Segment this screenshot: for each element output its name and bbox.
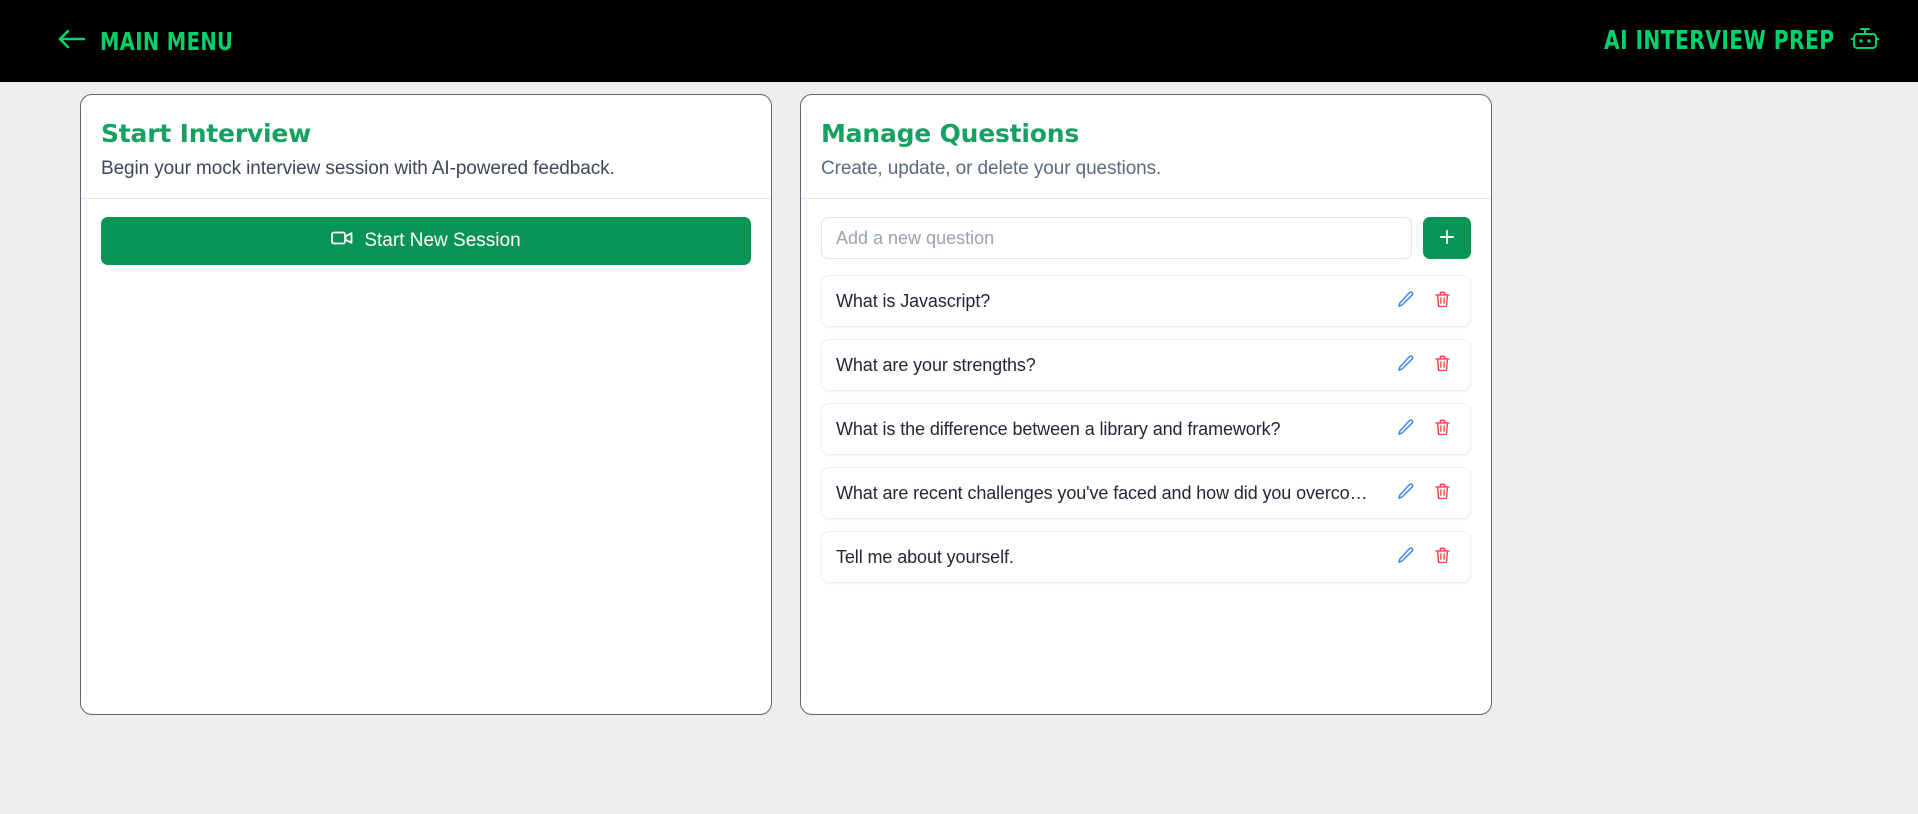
question-list-item-0[interactable]: What is Javascript? [821,275,1471,327]
pencil-icon [1396,290,1415,312]
trash-icon [1433,290,1452,312]
add-question-row [821,217,1471,259]
trash-icon [1433,482,1452,504]
start-interview-subtitle: Begin your mock interview session with A… [101,158,751,180]
start-new-session-label: Start New Session [364,230,520,252]
start-new-session-button[interactable]: Start New Session [101,217,751,265]
arrow-left-icon [56,28,86,55]
edit-question-button[interactable] [1392,546,1419,568]
question-text: What is Javascript? [836,291,1382,312]
add-question-button[interactable] [1423,217,1471,259]
app-header: MAIN MENU AI INTERVIEW PREP [0,0,1918,82]
main-content: Start Interview Begin your mock intervie… [0,82,1918,715]
robot-icon [1850,25,1880,58]
manage-questions-subtitle: Create, update, or delete your questions… [821,158,1471,180]
start-interview-header: Start Interview Begin your mock intervie… [81,95,771,198]
edit-question-button[interactable] [1392,418,1419,440]
manage-questions-header: Manage Questions Create, update, or dele… [801,95,1491,198]
delete-question-button[interactable] [1429,546,1456,568]
pencil-icon [1396,546,1415,568]
question-list-item-2[interactable]: What is the difference between a library… [821,403,1471,455]
new-question-input[interactable] [821,217,1412,259]
question-list-item-1[interactable]: What are your strengths? [821,339,1471,391]
edit-question-button[interactable] [1392,290,1419,312]
question-list-item-3[interactable]: What are recent challenges you've faced … [821,467,1471,519]
back-to-main-menu-button[interactable]: MAIN MENU [56,27,271,56]
trash-icon [1433,418,1452,440]
edit-question-button[interactable] [1392,482,1419,504]
manage-questions-title: Manage Questions [821,119,1471,148]
video-camera-icon [331,230,353,252]
delete-question-button[interactable] [1429,418,1456,440]
pencil-icon [1396,482,1415,504]
app-brand: AI INTERVIEW PREP [1539,25,1880,58]
question-list-item-4[interactable]: Tell me about yourself. [821,531,1471,583]
trash-icon [1433,546,1452,568]
start-interview-card: Start Interview Begin your mock intervie… [80,94,772,715]
manage-questions-body: What is Javascript? What are your streng… [801,199,1491,714]
pencil-icon [1396,354,1415,376]
trash-icon [1433,354,1452,376]
back-to-main-menu-label: MAIN MENU [100,27,233,56]
question-text: What are your strengths? [836,355,1382,376]
delete-question-button[interactable] [1429,354,1456,376]
question-list: What is Javascript? What are your streng… [821,275,1471,583]
manage-questions-card: Manage Questions Create, update, or dele… [800,94,1492,715]
question-text: Tell me about yourself. [836,547,1382,568]
app-brand-label: AI INTERVIEW PREP [1604,26,1834,56]
plus-icon [1438,228,1456,249]
question-text: What is the difference between a library… [836,419,1382,440]
delete-question-button[interactable] [1429,482,1456,504]
start-interview-body: Start New Session [81,199,771,714]
pencil-icon [1396,418,1415,440]
delete-question-button[interactable] [1429,290,1456,312]
start-interview-title: Start Interview [101,119,751,148]
edit-question-button[interactable] [1392,354,1419,376]
question-text: What are recent challenges you've faced … [836,483,1382,504]
